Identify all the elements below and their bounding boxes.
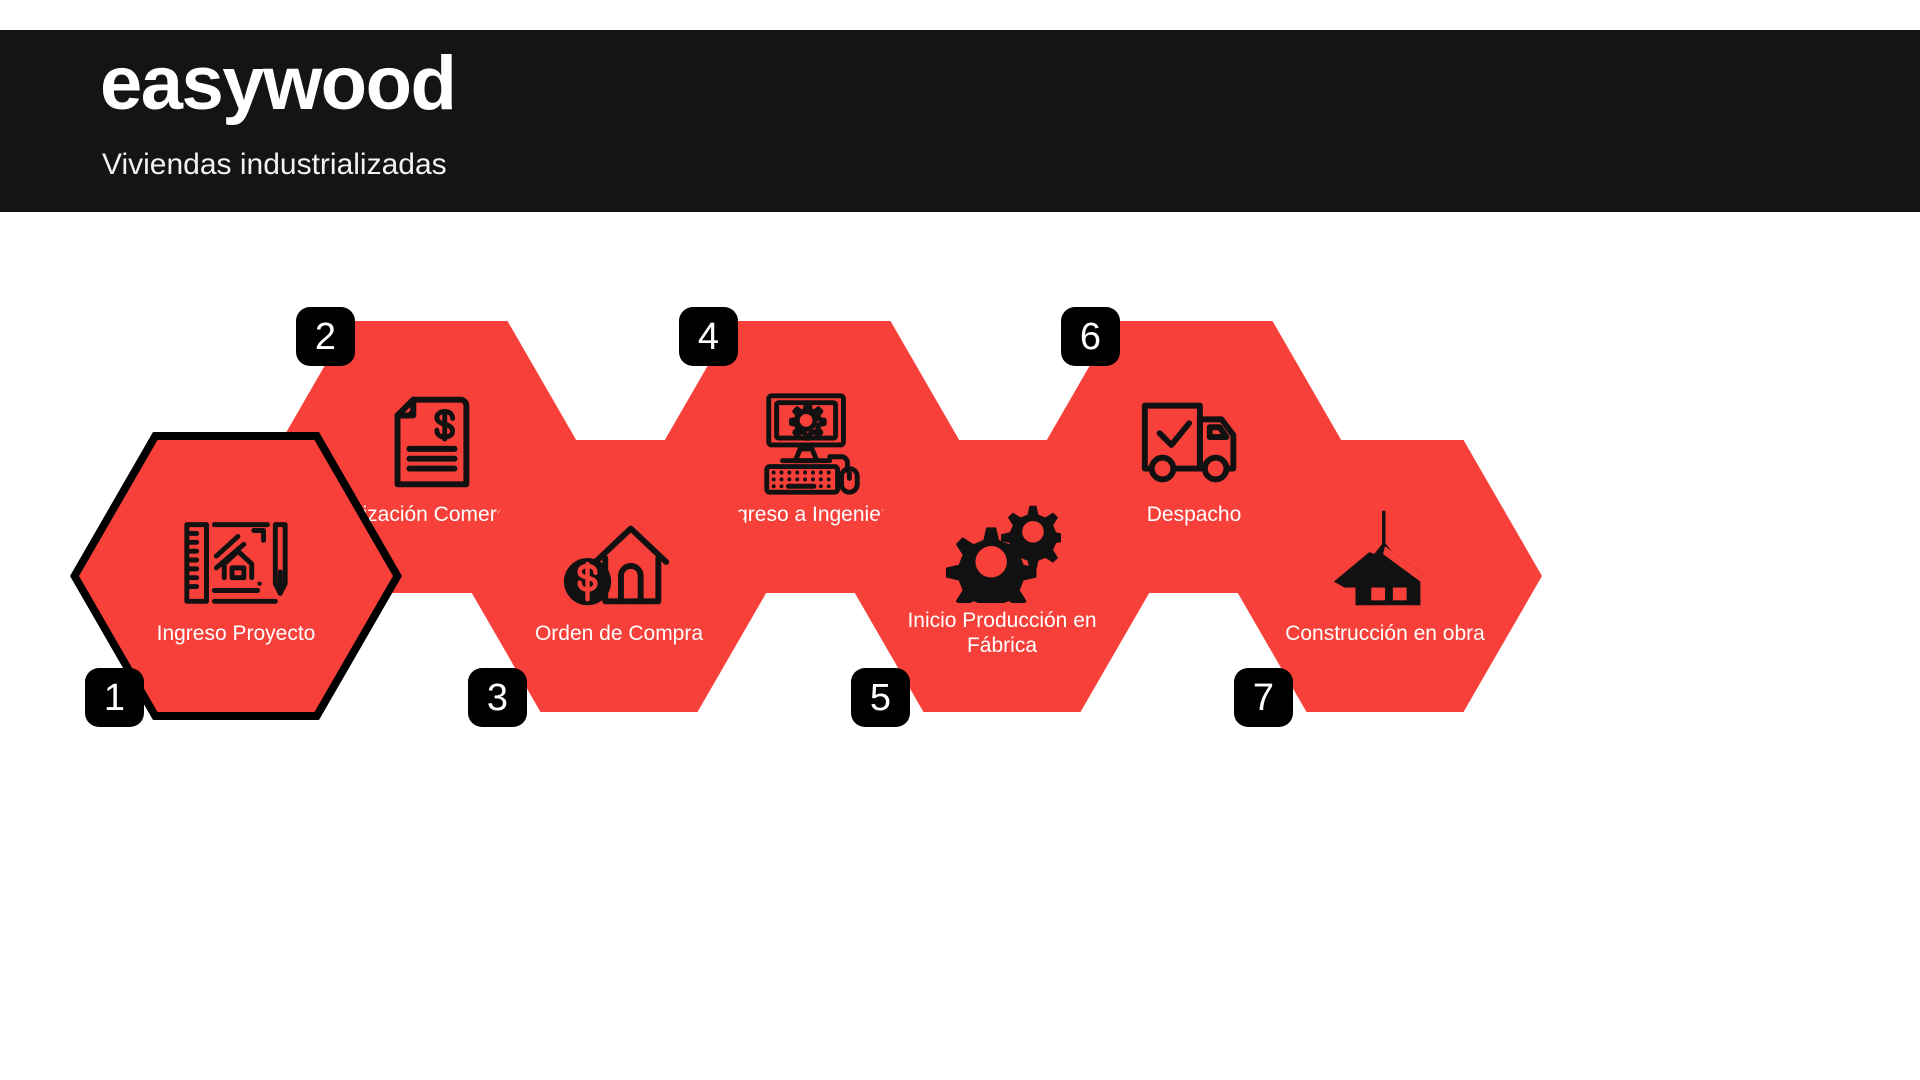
house-crane-icon — [1326, 506, 1444, 616]
step-number-badge: 2 — [296, 307, 355, 366]
step-number-badge: 1 — [85, 668, 144, 727]
step-number-badge: 3 — [468, 668, 527, 727]
flow-step-label: Orden de Compra — [504, 622, 734, 647]
flow-step-label: Ingreso Proyecto — [121, 622, 351, 647]
step-number-badge: 5 — [851, 668, 910, 727]
step-number-badge: 7 — [1234, 668, 1293, 727]
flow-step-label: Inicio Producción en Fábrica — [887, 609, 1117, 659]
house-coin-icon — [560, 506, 678, 616]
brand-tagline: Viviendas industrializadas — [102, 150, 447, 180]
brand-name: easywood — [100, 46, 455, 122]
flow-step-5[interactable]: Inicio Producción en Fábrica 5 — [845, 440, 1159, 712]
brand-header-bar: easywood Viviendas industrializadas — [0, 30, 1920, 212]
flow-step-3[interactable]: Orden de Compra 3 — [462, 440, 776, 712]
step-number-badge: 6 — [1061, 307, 1120, 366]
flow-step-7[interactable]: Construcción en obra 7 — [1228, 440, 1542, 712]
flow-step-1[interactable]: Ingreso Proyecto 1 — [79, 440, 393, 712]
process-flow-diagram: Ingreso Proyecto 1 — [0, 212, 1920, 1080]
step-number-badge: 4 — [679, 307, 738, 366]
blueprint-icon — [177, 506, 295, 616]
gears-icon — [943, 493, 1061, 603]
flow-step-label: Construcción en obra — [1270, 622, 1500, 647]
